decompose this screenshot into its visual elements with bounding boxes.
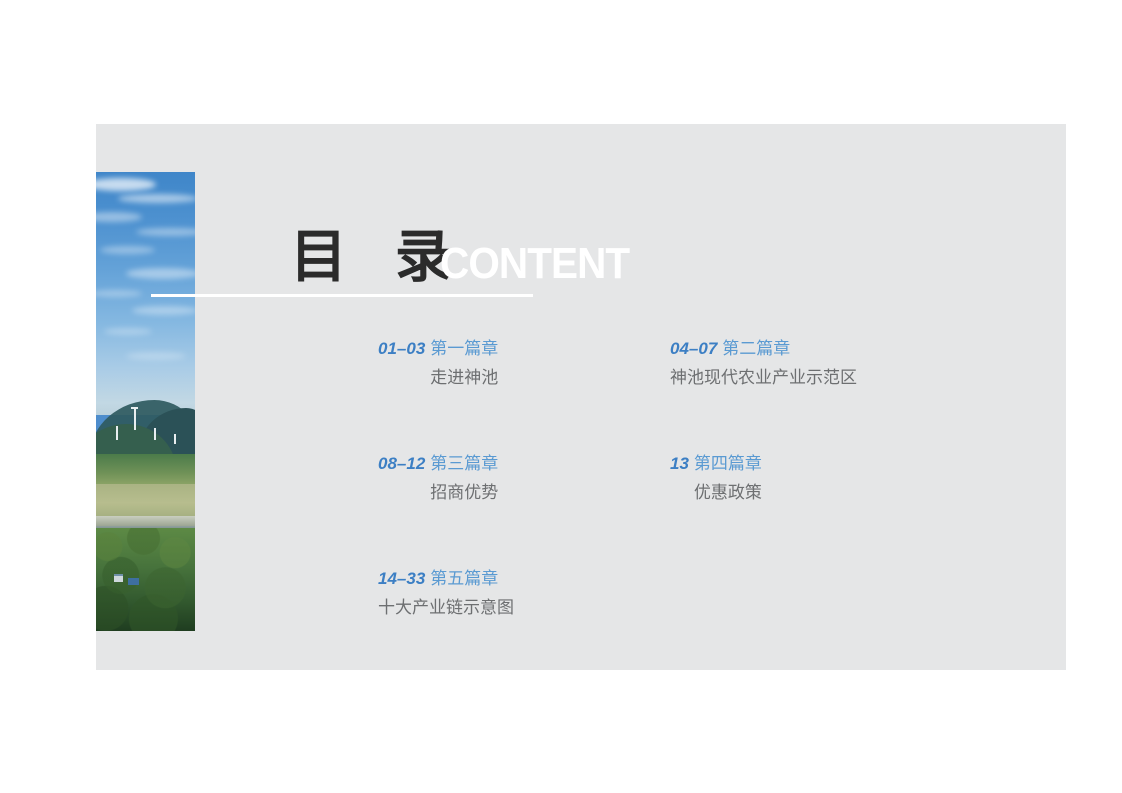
toc-list: 01–03第一篇章 走进神池 04–07第二篇章 神池现代农业产业示范区 bbox=[378, 336, 1018, 670]
toc-page-range: 01–03 bbox=[378, 339, 425, 358]
cloud-shape bbox=[126, 352, 186, 360]
toc-page-range: 14–33 bbox=[378, 569, 425, 588]
photo-hut bbox=[128, 578, 139, 585]
cloud-shape bbox=[96, 290, 142, 297]
cloud-shape bbox=[104, 328, 152, 335]
toc-heading: 04–07第二篇章 bbox=[670, 336, 857, 363]
toc-chapter-label: 第四篇章 bbox=[694, 454, 762, 474]
wind-turbine-icon bbox=[134, 408, 136, 430]
title-block: 目 录 CONTENT bbox=[290, 224, 930, 304]
toc-page-range: 04–07 bbox=[670, 339, 717, 358]
wind-turbine-icon bbox=[116, 426, 118, 440]
toc-item-1[interactable]: 01–03第一篇章 走进神池 bbox=[378, 336, 670, 393]
toc-chapter-label: 第五篇章 bbox=[430, 569, 498, 589]
slide-canvas: 目 录 CONTENT 01–03第一篇章 走进神池 bbox=[96, 124, 1066, 670]
wind-turbine-icon bbox=[174, 434, 176, 444]
toc-heading: 08–12第三篇章 bbox=[378, 451, 498, 478]
toc-row: 14–33第五篇章 十大产业链示意图 bbox=[378, 566, 1018, 670]
toc-page-range: 13 bbox=[670, 454, 689, 473]
cloud-shape bbox=[96, 178, 156, 191]
toc-row: 01–03第一篇章 走进神池 04–07第二篇章 神池现代农业产业示范区 bbox=[378, 336, 1018, 451]
photo-ridge bbox=[96, 454, 195, 488]
cloud-shape bbox=[136, 228, 195, 236]
toc-column-left: 01–03第一篇章 走进神池 bbox=[378, 336, 670, 451]
photo-hut bbox=[114, 574, 123, 582]
toc-subtitle: 十大产业链示意图 bbox=[378, 593, 514, 623]
toc-page-range: 08–12 bbox=[378, 454, 425, 473]
toc-chapter-label: 第三篇章 bbox=[430, 454, 498, 474]
toc-column-left: 08–12第三篇章 招商优势 bbox=[378, 451, 670, 566]
wind-turbine-icon bbox=[131, 407, 138, 409]
cloud-shape bbox=[132, 306, 195, 315]
photo-forest bbox=[96, 528, 195, 631]
toc-subtitle: 神池现代农业产业示范区 bbox=[670, 363, 857, 393]
toc-heading: 13第四篇章 bbox=[670, 451, 762, 478]
cloud-shape bbox=[100, 246, 155, 254]
cloud-shape bbox=[118, 194, 195, 203]
toc-item-5[interactable]: 14–33第五篇章 十大产业链示意图 bbox=[378, 566, 670, 623]
toc-item-4[interactable]: 13第四篇章 优惠政策 bbox=[670, 451, 962, 508]
title-divider bbox=[151, 294, 533, 297]
toc-heading: 14–33第五篇章 bbox=[378, 566, 514, 593]
toc-row: 08–12第三篇章 招商优势 13第四篇章 优惠政策 bbox=[378, 451, 1018, 566]
toc-chapter-label: 第二篇章 bbox=[722, 339, 790, 359]
toc-column-right: 13第四篇章 优惠政策 bbox=[670, 451, 962, 566]
toc-subtitle: 招商优势 bbox=[378, 478, 498, 508]
toc-item-2[interactable]: 04–07第二篇章 神池现代农业产业示范区 bbox=[670, 336, 962, 393]
page-title-en: CONTENT bbox=[440, 238, 629, 290]
toc-chapter-label: 第一篇章 bbox=[430, 339, 498, 359]
cloud-shape bbox=[96, 212, 142, 222]
toc-item-3[interactable]: 08–12第三篇章 招商优势 bbox=[378, 451, 670, 508]
toc-column-right: 04–07第二篇章 神池现代农业产业示范区 bbox=[670, 336, 962, 451]
wind-turbine-icon bbox=[154, 428, 156, 440]
toc-column-left: 14–33第五篇章 十大产业链示意图 bbox=[378, 566, 670, 670]
toc-subtitle: 优惠政策 bbox=[670, 478, 762, 508]
toc-heading: 01–03第一篇章 bbox=[378, 336, 498, 363]
cloud-shape bbox=[126, 268, 195, 279]
toc-subtitle: 走进神池 bbox=[378, 363, 498, 393]
landscape-photo bbox=[96, 172, 195, 631]
